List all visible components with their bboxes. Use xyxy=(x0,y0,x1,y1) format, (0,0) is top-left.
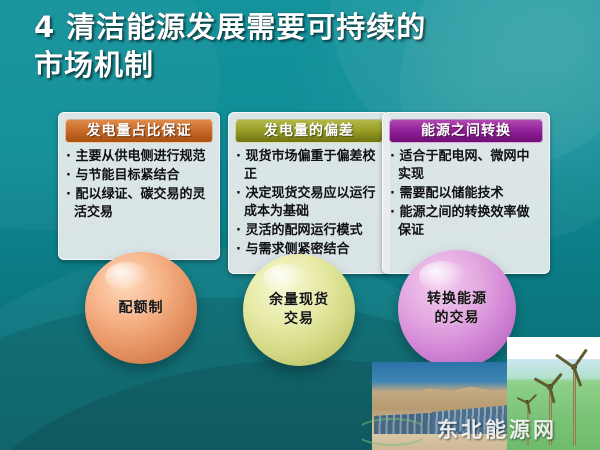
panel-deviation: 发电量的偏差 现货市场偏重于偏差校正 决定现货交易应以运行成本为基础 灵活的配网… xyxy=(228,112,390,274)
sphere-conversion-label: 转换能源 的交易 xyxy=(427,290,487,328)
watermark-decoration xyxy=(355,418,429,446)
bullet-item: 决定现货交易应以运行成本为基础 xyxy=(236,185,382,221)
sphere-deviation: 余量现货 交易 xyxy=(243,254,355,366)
sphere-quota-label: 配额制 xyxy=(119,299,164,318)
bullet-item: 主要从供电侧进行规范 xyxy=(66,148,212,166)
bullet-item: 与节能目标紧结合 xyxy=(66,167,212,185)
bullet-item: 能源之间的转换效率做保证 xyxy=(390,204,542,240)
bullet-item: 需要配以储能技术 xyxy=(390,185,542,203)
panel-conversion: 能源之间转换 适合于配电网、微网中实现 需要配以储能技术 能源之间的转换效率做保… xyxy=(382,112,550,274)
panel-deviation-body: 现货市场偏重于偏差校正 决定现货交易应以运行成本为基础 灵活的配网运行模式 与需… xyxy=(229,147,389,266)
panel-conversion-body: 适合于配电网、微网中实现 需要配以储能技术 能源之间的转换效率做保证 xyxy=(383,147,549,247)
bullet-item: 现货市场偏重于偏差校正 xyxy=(236,148,382,184)
watermark-text: 东北能源网 xyxy=(437,414,557,444)
panel-quota-body: 主要从供电侧进行规范 与节能目标紧结合 配以绿证、碳交易的灵活交易 xyxy=(59,147,219,229)
sphere-deviation-label: 余量现货 交易 xyxy=(269,291,329,329)
sky-band xyxy=(507,359,600,379)
slide-title: 4 清洁能源发展需要可持续的 市场机制 xyxy=(34,8,574,84)
panel-deviation-header: 发电量的偏差 xyxy=(235,119,383,143)
sphere-conversion: 转换能源 的交易 xyxy=(398,250,516,368)
bullet-item: 灵活的配网运行模式 xyxy=(236,222,382,240)
bullet-item: 配以绿证、碳交易的灵活交易 xyxy=(66,186,212,222)
bullet-item: 适合于配电网、微网中实现 xyxy=(390,148,542,184)
panel-quota-header: 发电量占比保证 xyxy=(65,119,213,143)
sphere-quota: 配额制 xyxy=(85,252,197,364)
slide-canvas: 4 清洁能源发展需要可持续的 市场机制 发电量占比保证 主要从供电侧进行规范 与… xyxy=(0,0,600,450)
panel-quota: 发电量占比保证 主要从供电侧进行规范 与节能目标紧结合 配以绿证、碳交易的灵活交… xyxy=(58,112,220,260)
panel-conversion-header: 能源之间转换 xyxy=(389,119,543,143)
